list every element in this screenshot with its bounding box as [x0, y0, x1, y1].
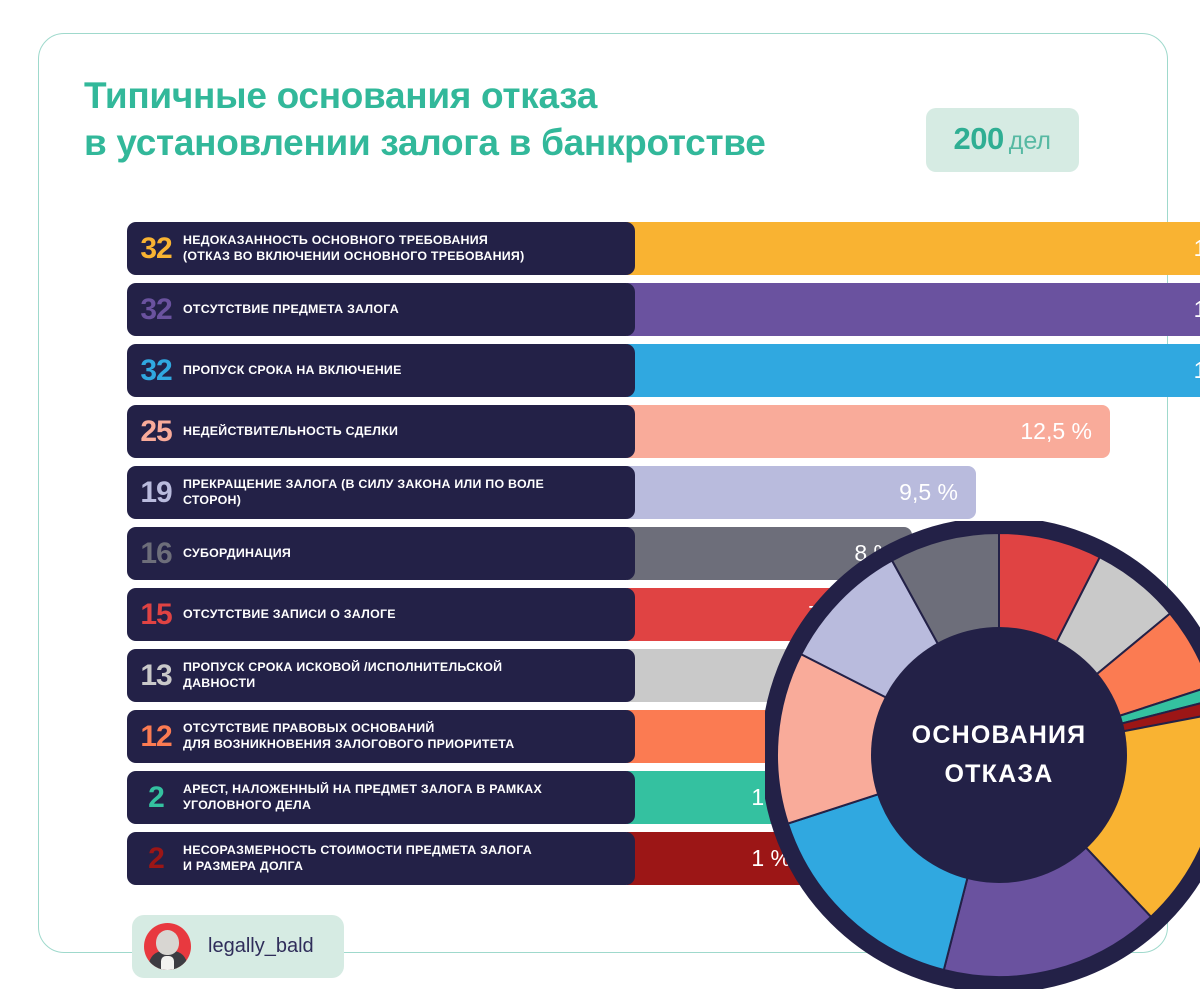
- bar-segment: 16 %: [627, 222, 1200, 275]
- header: Типичные основания отказа в установлении…: [84, 72, 1124, 182]
- row-title-line-2: УГОЛОВНОГО ДЕЛА: [183, 798, 625, 814]
- row-title-line-2: СТОРОН): [183, 493, 625, 509]
- row-title-line-1: НЕСОРАЗМЕРНОСТЬ СТОИМОСТИ ПРЕДМЕТА ЗАЛОГ…: [183, 843, 625, 859]
- donut-svg: [765, 521, 1200, 989]
- row-label-panel: 15ОТСУТСТВИЕ ЗАПИСИ О ЗАЛОГЕ: [127, 588, 635, 641]
- row-label-panel: 12ОТСУТСТВИЕ ПРАВОВЫХ ОСНОВАНИЙДЛЯ ВОЗНИ…: [127, 710, 635, 763]
- row-title-line-1: ПРЕКРАЩЕНИЕ ЗАЛОГА (В СИЛУ ЗАКОНА ИЛИ ПО…: [183, 477, 625, 493]
- row-count: 25: [127, 417, 183, 447]
- row-label-panel: 25НЕДЕЙСТВИТЕЛЬНОСТЬ СДЕЛКИ: [127, 405, 635, 458]
- row-count: 2: [127, 844, 183, 874]
- row-title: ОТСУТСТВИЕ ПРЕДМЕТА ЗАЛОГА: [183, 302, 635, 318]
- bar-percent-label: 12,5 %: [1020, 418, 1110, 445]
- row-count: 32: [127, 295, 183, 325]
- avatar: [144, 923, 191, 970]
- row-label-panel: 19ПРЕКРАЩЕНИЕ ЗАЛОГА (В СИЛУ ЗАКОНА ИЛИ …: [127, 466, 635, 519]
- author-handle: legally_bald: [208, 935, 314, 958]
- row-title-line-2: ДЛЯ ВОЗНИКНОВЕНИЯ ЗАЛОГОВОГО ПРИОРИТЕТА: [183, 737, 625, 753]
- row-title-line-2: (ОТКАЗ ВО ВКЛЮЧЕНИИ ОСНОВНОГО ТРЕБОВАНИЯ…: [183, 249, 625, 265]
- total-cases-badge: 200дел: [926, 108, 1079, 172]
- infographic-card: Типичные основания отказа в установлении…: [38, 33, 1168, 953]
- table-row: 16 %32НЕДОКАЗАННОСТЬ ОСНОВНОГО ТРЕБОВАНИ…: [127, 222, 1187, 275]
- row-title-line-1: НЕДЕЙСТВИТЕЛЬНОСТЬ СДЕЛКИ: [183, 424, 625, 440]
- bar-percent-label: 16 %: [1194, 235, 1200, 262]
- row-title-line-2: И РАЗМЕРА ДОЛГА: [183, 859, 625, 875]
- bar-segment: 12,5 %: [627, 405, 1110, 458]
- row-count: 32: [127, 234, 183, 264]
- row-count: 13: [127, 661, 183, 691]
- bar-percent-label: 9,5 %: [899, 479, 976, 506]
- row-count: 15: [127, 600, 183, 630]
- row-label-panel: 2НЕСОРАЗМЕРНОСТЬ СТОИМОСТИ ПРЕДМЕТА ЗАЛО…: [127, 832, 635, 885]
- bar-segment: 16 %: [627, 344, 1200, 397]
- donut-center-disc: [871, 627, 1127, 883]
- row-title: НЕДОКАЗАННОСТЬ ОСНОВНОГО ТРЕБОВАНИЯ(ОТКА…: [183, 233, 635, 265]
- row-title-line-1: ОТСУТСТВИЕ ПРЕДМЕТА ЗАЛОГА: [183, 302, 625, 318]
- row-title-line-1: ПРОПУСК СРОКА ИСКОВОЙ /ИСПОЛНИТЕЛЬСКОЙ: [183, 660, 625, 676]
- total-cases-unit: дел: [1009, 127, 1051, 155]
- page-title: Типичные основания отказа в установлении…: [84, 72, 884, 167]
- row-label-panel: 16СУБОРДИНАЦИЯ: [127, 527, 635, 580]
- bar-percent-label: 16 %: [1194, 357, 1200, 384]
- row-label-panel: 13ПРОПУСК СРОКА ИСКОВОЙ /ИСПОЛНИТЕЛЬСКОЙ…: [127, 649, 635, 702]
- row-title-line-1: ОТСУТСТВИЕ ЗАПИСИ О ЗАЛОГЕ: [183, 607, 625, 623]
- row-title: ПРЕКРАЩЕНИЕ ЗАЛОГА (В СИЛУ ЗАКОНА ИЛИ ПО…: [183, 477, 635, 509]
- row-title: ОТСУТСТВИЕ ЗАПИСИ О ЗАЛОГЕ: [183, 607, 635, 623]
- donut-chart: ОСНОВАНИЯ ОТКАЗА: [765, 521, 1200, 989]
- title-line-2: в установлении залога в банкротстве: [84, 119, 884, 166]
- row-title: СУБОРДИНАЦИЯ: [183, 546, 635, 562]
- table-row: 16 %32ПРОПУСК СРОКА НА ВКЛЮЧЕНИЕ: [127, 344, 1187, 397]
- row-count: 32: [127, 356, 183, 386]
- row-title: ПРОПУСК СРОКА ИСКОВОЙ /ИСПОЛНИТЕЛЬСКОЙДА…: [183, 660, 635, 692]
- row-count: 2: [127, 783, 183, 813]
- row-title-line-2: ДАВНОСТИ: [183, 676, 625, 692]
- bar-segment: 9,5 %: [627, 466, 976, 519]
- row-count: 16: [127, 539, 183, 569]
- row-title: ОТСУТСТВИЕ ПРАВОВЫХ ОСНОВАНИЙДЛЯ ВОЗНИКН…: [183, 721, 635, 753]
- row-title-line-1: ОТСУТСТВИЕ ПРАВОВЫХ ОСНОВАНИЙ: [183, 721, 625, 737]
- row-title-line-1: СУБОРДИНАЦИЯ: [183, 546, 625, 562]
- total-cases-number: 200: [954, 121, 1004, 156]
- avatar-head: [156, 930, 179, 955]
- row-count: 12: [127, 722, 183, 752]
- table-row: 9,5 %19ПРЕКРАЩЕНИЕ ЗАЛОГА (В СИЛУ ЗАКОНА…: [127, 466, 1187, 519]
- row-label-panel: 2АРЕСТ, НАЛОЖЕННЫЙ НА ПРЕДМЕТ ЗАЛОГА В Р…: [127, 771, 635, 824]
- row-label-panel: 32ПРОПУСК СРОКА НА ВКЛЮЧЕНИЕ: [127, 344, 635, 397]
- bar-segment: 16 %: [627, 283, 1200, 336]
- row-title: НЕСОРАЗМЕРНОСТЬ СТОИМОСТИ ПРЕДМЕТА ЗАЛОГ…: [183, 843, 635, 875]
- table-row: 12,5 %25НЕДЕЙСТВИТЕЛЬНОСТЬ СДЕЛКИ: [127, 405, 1187, 458]
- table-row: 16 %32ОТСУТСТВИЕ ПРЕДМЕТА ЗАЛОГА: [127, 283, 1187, 336]
- avatar-shirt: [161, 956, 174, 970]
- row-title: НЕДЕЙСТВИТЕЛЬНОСТЬ СДЕЛКИ: [183, 424, 635, 440]
- row-title: АРЕСТ, НАЛОЖЕННЫЙ НА ПРЕДМЕТ ЗАЛОГА В РА…: [183, 782, 635, 814]
- bar-percent-label: 16 %: [1194, 296, 1200, 323]
- row-count: 19: [127, 478, 183, 508]
- row-title-line-1: НЕДОКАЗАННОСТЬ ОСНОВНОГО ТРЕБОВАНИЯ: [183, 233, 625, 249]
- row-title: ПРОПУСК СРОКА НА ВКЛЮЧЕНИЕ: [183, 363, 635, 379]
- row-title-line-1: АРЕСТ, НАЛОЖЕННЫЙ НА ПРЕДМЕТ ЗАЛОГА В РА…: [183, 782, 625, 798]
- title-line-1: Типичные основания отказа: [84, 72, 884, 119]
- row-label-panel: 32НЕДОКАЗАННОСТЬ ОСНОВНОГО ТРЕБОВАНИЯ(ОТ…: [127, 222, 635, 275]
- row-title-line-1: ПРОПУСК СРОКА НА ВКЛЮЧЕНИЕ: [183, 363, 625, 379]
- row-label-panel: 32ОТСУТСТВИЕ ПРЕДМЕТА ЗАЛОГА: [127, 283, 635, 336]
